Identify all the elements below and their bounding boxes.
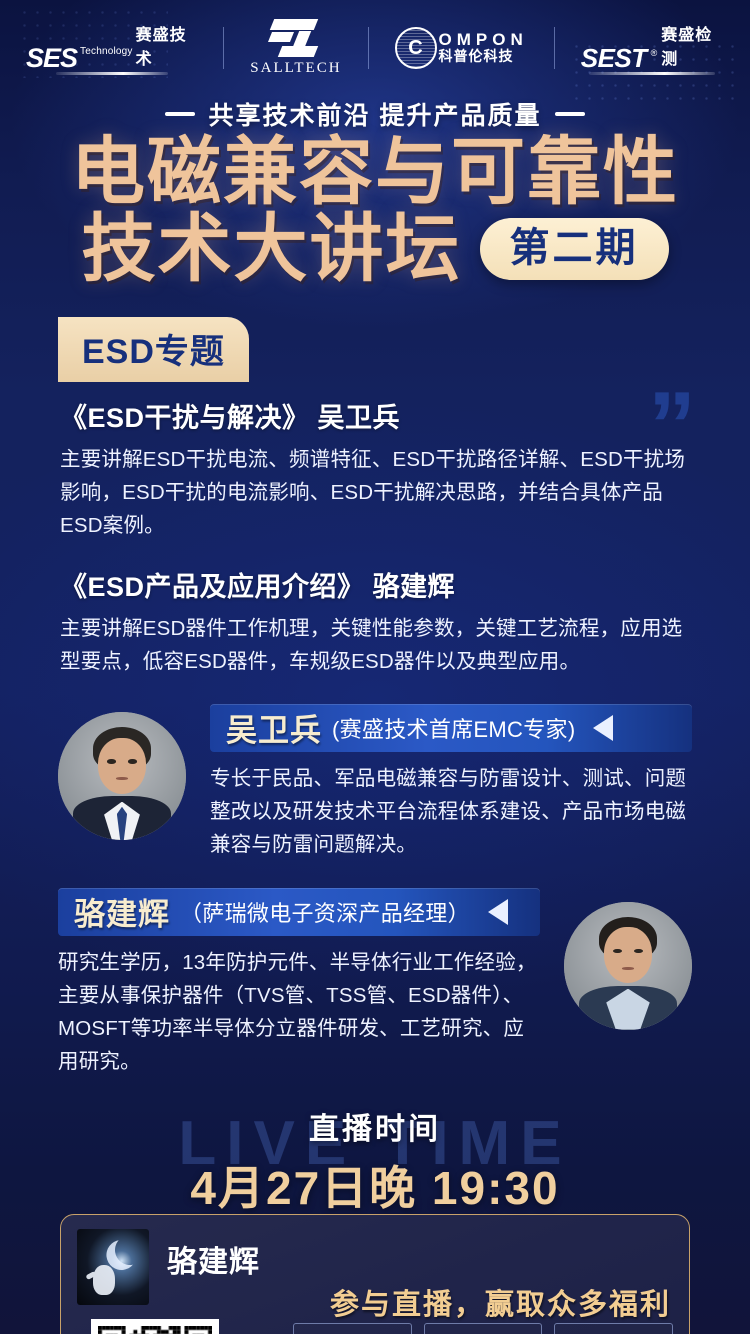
course-item: 《ESD产品及应用介绍》 骆建辉 主要讲解ESD器件工作机理，关键性能参数，关键… bbox=[60, 565, 690, 678]
course-description: 主要讲解ESD干扰电流、频谱特征、ESD干扰路径详解、ESD干扰场影响，ESD干… bbox=[60, 443, 690, 543]
sest-superscript: ® bbox=[651, 48, 658, 70]
qr-code[interactable] bbox=[91, 1319, 219, 1334]
promo-account-name: 骆建辉 bbox=[167, 1229, 260, 1281]
ses-superscript: Technology bbox=[80, 47, 133, 70]
compon-circle-icon: C bbox=[395, 27, 437, 69]
avatar bbox=[58, 712, 186, 840]
speaker-card-luo-jianhui: 骆建辉 （萨瑞微电子资深产品经理） 研究生学历，13年防护元件、半导体行业工作经… bbox=[58, 888, 692, 1079]
prize-list: 邀约达人奖 精美礼品一份 有奖竞答 bbox=[293, 1323, 673, 1334]
speaker-name: 吴卫兵 bbox=[226, 705, 322, 750]
prize-item: 邀约达人奖 精美礼品一份 bbox=[293, 1323, 412, 1334]
moon-icon bbox=[112, 1232, 149, 1269]
prize-item: 有奖竞答 EMC bbox=[424, 1323, 543, 1334]
speaker-role: (赛盛技术首席EMC专家) bbox=[332, 712, 575, 744]
logo-salltech: SALLTECH bbox=[224, 19, 367, 77]
esd-section: ESD专题 ” 《ESD干扰与解决》 吴卫兵 主要讲解ESD干扰电流、频谱特征、… bbox=[0, 287, 750, 678]
logo-compon: C OMPON 科普伦科技 bbox=[369, 27, 554, 69]
sest-wordmark: SEST bbox=[581, 47, 647, 70]
triangle-left-icon bbox=[488, 899, 508, 925]
prize-item: 福利抽奖 价值299网课 bbox=[554, 1323, 673, 1334]
ses-chinese-name: 赛盛技术 bbox=[136, 21, 198, 70]
ses-wordmark: SES bbox=[26, 46, 77, 70]
tagline-text: 共享技术前沿 提升产品质量 bbox=[209, 96, 542, 132]
ses-underline-swoosh bbox=[56, 72, 168, 75]
sest-underline-swoosh bbox=[589, 72, 715, 75]
issue-badge: 第二期 bbox=[480, 218, 669, 280]
logo-bar: SES Technology 赛盛技术 SALLTECH C OMPON 科普伦… bbox=[0, 0, 750, 90]
live-time-label: 直播时间 bbox=[0, 1104, 750, 1148]
logo-ses-technology: SES Technology 赛盛技术 bbox=[0, 21, 223, 75]
logo-sest: SEST ® 赛盛检测 bbox=[555, 21, 750, 75]
speaker-role: （萨瑞微电子资深产品经理） bbox=[180, 896, 470, 928]
page-title-line2: 技术大讲坛 bbox=[82, 211, 462, 286]
speaker-name: 骆建辉 bbox=[74, 889, 170, 934]
course-title: 《ESD产品及应用介绍》 骆建辉 bbox=[60, 565, 690, 604]
triangle-left-icon bbox=[593, 715, 613, 741]
promo-card: 骆建辉 参与直播，赢取众多福利 邀约达人奖 精美礼品一份 bbox=[60, 1214, 690, 1334]
compon-chinese-name: 科普伦科技 bbox=[439, 49, 528, 64]
promo-avatar-image bbox=[77, 1229, 149, 1305]
compon-wordmark: OMPON bbox=[439, 31, 528, 49]
headline-block: 共享技术前沿 提升产品质量 电磁兼容与可靠性 技术大讲坛 第二期 bbox=[0, 90, 750, 287]
page-title-line1: 电磁兼容与可靠性 bbox=[0, 134, 750, 209]
poster-page: SES Technology 赛盛技术 SALLTECH C OMPON 科普伦… bbox=[0, 0, 750, 1334]
salltech-mark-icon bbox=[268, 19, 324, 57]
sest-chinese-name: 赛盛检测 bbox=[661, 21, 724, 70]
course-description: 主要讲解ESD器件工作机理，关键性能参数，关键工艺流程，应用选型要点，低容ESD… bbox=[60, 612, 690, 678]
speaker-bio: 专长于民品、军品电磁兼容与防雷设计、测试、问题整改以及研发技术平台流程体系建设、… bbox=[210, 762, 692, 862]
astronaut-icon bbox=[93, 1265, 115, 1295]
live-time-block: LIVE TIME 直播时间 4月27日晚 19:30 bbox=[0, 1104, 750, 1208]
speaker-name-bar: 吴卫兵 (赛盛技术首席EMC专家) bbox=[210, 704, 692, 752]
speaker-bio: 研究生学历，13年防护元件、半导体行业工作经验，主要从事保护器件（TVS管、TS… bbox=[58, 946, 540, 1079]
speaker-card-wu-weibing: 吴卫兵 (赛盛技术首席EMC专家) 专长于民品、军品电磁兼容与防雷设计、测试、问… bbox=[58, 704, 692, 862]
live-time-value: 4月27日晚 19:30 bbox=[0, 1152, 750, 1218]
avatar bbox=[564, 902, 692, 1030]
qr-code-canvas bbox=[98, 1326, 212, 1334]
promo-slogan: 参与直播，赢取众多福利 bbox=[330, 1281, 671, 1323]
salltech-wordmark: SALLTECH bbox=[250, 60, 341, 77]
course-title: 《ESD干扰与解决》 吴卫兵 bbox=[60, 396, 690, 435]
section-tag-esd: ESD专题 bbox=[58, 317, 249, 382]
tagline: 共享技术前沿 提升产品质量 bbox=[0, 96, 750, 132]
tagline-dash-right bbox=[555, 112, 585, 116]
speaker-name-bar: 骆建辉 （萨瑞微电子资深产品经理） bbox=[58, 888, 540, 936]
course-item: ” 《ESD干扰与解决》 吴卫兵 主要讲解ESD干扰电流、频谱特征、ESD干扰路… bbox=[60, 396, 690, 543]
tagline-dash-left bbox=[165, 112, 195, 116]
